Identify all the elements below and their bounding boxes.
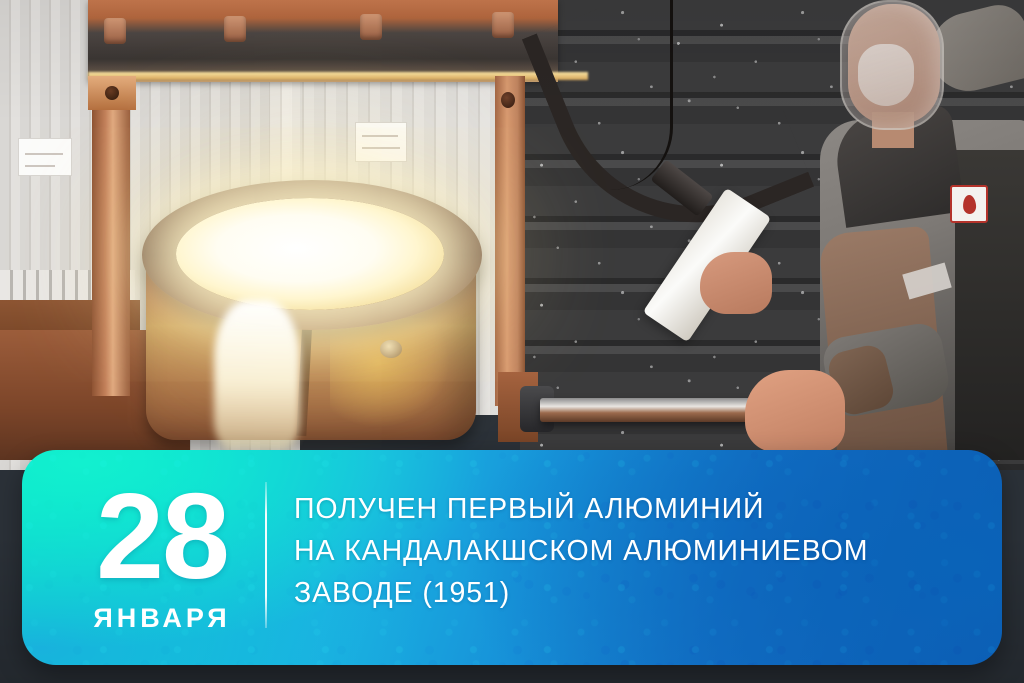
date-banner: 28 ЯНВАРЯ ПОЛУЧЕН ПЕРВЫЙ АЛЮМИНИЙ НА КАН… [22,450,1002,665]
headline-line-1: ПОЛУЧЕН ПЕРВЫЙ АЛЮМИНИЙ [294,488,962,530]
date-day: 28 [96,482,228,592]
poster-stage: 28 ЯНВАРЯ ПОЛУЧЕН ПЕРВЫЙ АЛЮМИНИЙ НА КАН… [0,0,1024,683]
headline-line-2: НА КАНДАЛАКШСКОМ АЛЮМИНИЕВОМ [294,530,962,572]
date-block: 28 ЯНВАРЯ [58,460,266,656]
banner-divider [265,482,267,628]
date-month: ЯНВАРЯ [93,603,230,634]
headline: ПОЛУЧЕН ПЕРВЫЙ АЛЮМИНИЙ НА КАНДАЛАКШСКОМ… [294,488,962,614]
headline-line-3: ЗАВОДЕ (1951) [294,572,962,614]
